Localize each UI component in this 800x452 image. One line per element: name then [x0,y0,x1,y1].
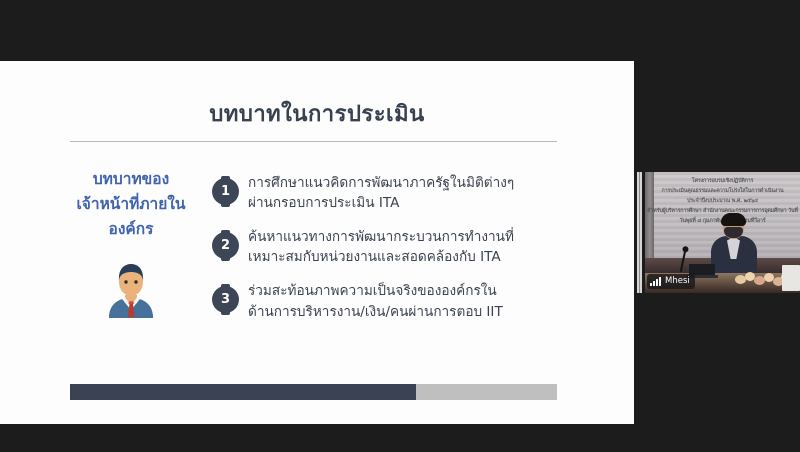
badge-number-1: 1 [212,178,239,205]
bullet-2-line-2: เหมาะสมกับหน่วยงานและสอดคล้องกับ ITA [248,247,514,267]
badge-nub-bottom [221,310,230,315]
participant-name-badge: Mhesi [647,274,695,289]
bullet-3-line-2: ด้านการบริหารงาน/เงิน/คนผ่านการตอบ IIT [248,302,503,322]
left-heading-line-2: เจ้าหน้าที่ภายใน [56,192,206,217]
number-badge-1: 1 [212,176,239,203]
badge-nub-bottom [221,256,230,261]
speaker-hair [721,213,746,226]
badge-number-2: 2 [212,232,239,259]
video-thumbnail[interactable]: โครงการอบรมเชิงปฏิบัติการ การประเมินคุณธ… [645,172,800,293]
title-divider [70,141,557,142]
left-heading: บทบาทของ เจ้าหน้าที่ภายใน องค์กร [56,167,206,242]
bullet-item-3: 3 ร่วมสะท้อนภาพความเป็นจริงขององค์กรใน ด… [212,281,612,321]
left-heading-line-1: บทบาทของ [56,167,206,192]
projected-line-1: โครงการอบรมเชิงปฏิบัติการ [645,176,800,186]
number-badge-3: 3 [212,284,239,311]
signal-bars-icon [650,277,661,286]
screen-root: บทบาทในการประเมิน บทบาทของ เจ้าหน้าที่ภา… [0,0,800,452]
progress-bar-fill [70,384,416,400]
bullet-text-2: ค้นหาแนวทางการพัฒนากระบวนการทำงานที่ เหม… [248,227,514,267]
projected-line-3: ประจำปีงบประมาณ พ.ศ. ๒๕๖๔ [645,196,800,206]
bullet-text-1: การศึกษาแนวคิดการพัฒนาภาครัฐในมิติต่างๆ … [248,173,514,213]
bullet-2-line-1: ค้นหาแนวทางการพัฒนากระบวนการทำงานที่ [248,227,514,247]
slide-title: บทบาทในการประเมิน [0,103,634,127]
left-column: บทบาทของ เจ้าหน้าที่ภายใน องค์กร [56,167,206,320]
number-badge-2: 2 [212,230,239,257]
bullet-1-line-2: ผ่านกรอบการประเมิน ITA [248,193,514,213]
avatar [56,258,206,320]
projected-line-2: การประเมินคุณธรรมและความโปร่งใสในการดำเน… [645,186,800,196]
badge-number-3: 3 [212,286,239,313]
badge-nub-bottom [221,202,230,207]
participant-name: Mhesi [665,277,690,286]
progress-bar [70,384,557,400]
bullet-item-2: 2 ค้นหาแนวทางการพัฒนากระบวนการทำงานที่ เ… [212,227,612,267]
presentation-slide: บทบาทในการประเมิน บทบาทของ เจ้าหน้าที่ภา… [0,61,634,424]
video-left-divider [637,172,642,293]
side-thumbnail [782,265,800,291]
bullet-text-3: ร่วมสะท้อนภาพความเป็นจริงขององค์กรใน ด้า… [248,281,503,321]
left-heading-line-3: องค์กร [56,217,206,242]
bullet-1-line-1: การศึกษาแนวคิดการพัฒนาภาครัฐในมิติต่างๆ [248,173,514,193]
person-avatar-icon [100,258,162,320]
bullet-list: 1 การศึกษาแนวคิดการพัฒนาภาครัฐในมิติต่าง… [212,173,612,336]
bullet-3-line-1: ร่วมสะท้อนภาพความเป็นจริงขององค์กรใน [248,281,503,301]
bullet-item-1: 1 การศึกษาแนวคิดการพัฒนาภาครัฐในมิติต่าง… [212,173,612,213]
